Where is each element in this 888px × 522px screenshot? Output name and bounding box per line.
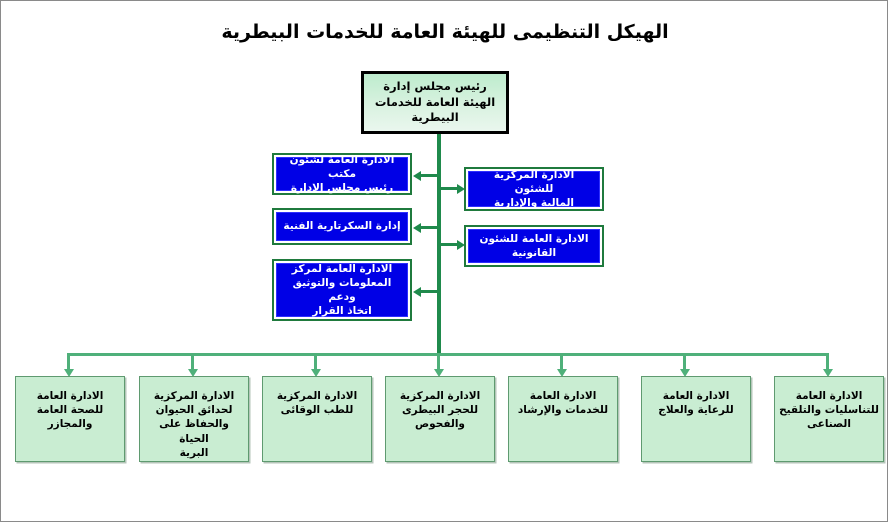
node-staff-right-1-label: الادارة المركزية للشئون المالية والإداري… — [469, 168, 599, 211]
node-chairman-label: رئيس مجلس إدارة الهيئة العامة للخدمات ال… — [364, 79, 506, 126]
node-dept-3-label: الادارة المركزية للطب الوقائى — [263, 389, 371, 417]
node-dept-7-label: الادارة العامة للتناسليات والتلقيح الصنا… — [775, 389, 883, 432]
node-dept-6-label: الادارة العامة للرعاية والعلاج — [642, 389, 750, 417]
page-title: الهيكل التنظيمى للهيئة العامة للخدمات ال… — [1, 21, 888, 43]
node-staff-left-3[interactable]: الادارة العامة لمركز المعلومات والتوثيق … — [272, 259, 412, 321]
branch-left-2 — [421, 226, 441, 229]
node-dept-3[interactable]: الادارة المركزية للطب الوقائى — [262, 376, 372, 462]
node-staff-left-3-label: الادارة العامة لمركز المعلومات والتوثيق … — [277, 262, 407, 319]
org-chart-canvas: الهيكل التنظيمى للهيئة العامة للخدمات ال… — [0, 0, 888, 522]
node-staff-left-2[interactable]: إدارة السكرتارية الفنية — [272, 208, 412, 245]
node-dept-7[interactable]: الادارة العامة للتناسليات والتلقيح الصنا… — [774, 376, 884, 462]
node-dept-5[interactable]: الادارة العامة للخدمات والإرشاد — [508, 376, 618, 462]
dept-bus-horizontal — [67, 353, 829, 356]
node-dept-4-label: الادارة المركزية للحجر البيطرى والفحوص — [386, 389, 494, 432]
node-dept-6[interactable]: الادارة العامة للرعاية والعلاج — [641, 376, 751, 462]
branch-left-3 — [421, 290, 441, 293]
branch-left-1-arrow — [413, 171, 421, 181]
node-chairman[interactable]: رئيس مجلس إدارة الهيئة العامة للخدمات ال… — [361, 71, 509, 134]
node-staff-right-2[interactable]: الادارة العامة للشئون القانونية — [464, 225, 604, 267]
node-dept-4[interactable]: الادارة المركزية للحجر البيطرى والفحوص — [385, 376, 495, 462]
node-staff-right-1[interactable]: الادارة المركزية للشئون المالية والإداري… — [464, 167, 604, 211]
node-staff-left-1[interactable]: الادارة العامة لشئون مكتب رئيس مجلس الاد… — [272, 153, 412, 195]
node-dept-5-label: الادارة العامة للخدمات والإرشاد — [509, 389, 617, 417]
node-dept-1[interactable]: الادارة العامة للصحة العامة والمجازر — [15, 376, 125, 462]
branch-left-3-arrow — [413, 287, 421, 297]
node-staff-left-2-label: إدارة السكرتارية الفنية — [277, 219, 407, 233]
node-dept-2-label: الادارة المركزية لحدائق الحيوان والحفاظ … — [140, 389, 248, 460]
node-staff-right-2-inner: الادارة العامة للشئون القانونية — [468, 229, 600, 263]
node-staff-left-2-inner: إدارة السكرتارية الفنية — [276, 212, 408, 241]
node-staff-right-1-inner: الادارة المركزية للشئون المالية والإداري… — [468, 171, 600, 207]
node-staff-left-1-label: الادارة العامة لشئون مكتب رئيس مجلس الاد… — [277, 153, 407, 196]
node-staff-left-1-inner: الادارة العامة لشئون مكتب رئيس مجلس الاد… — [276, 157, 408, 191]
node-dept-2[interactable]: الادارة المركزية لحدائق الحيوان والحفاظ … — [139, 376, 249, 462]
branch-left-1 — [421, 174, 441, 177]
node-dept-1-label: الادارة العامة للصحة العامة والمجازر — [16, 389, 124, 432]
node-staff-right-2-label: الادارة العامة للشئون القانونية — [469, 232, 599, 260]
node-staff-left-3-inner: الادارة العامة لمركز المعلومات والتوثيق … — [276, 263, 408, 317]
branch-left-2-arrow — [413, 223, 421, 233]
